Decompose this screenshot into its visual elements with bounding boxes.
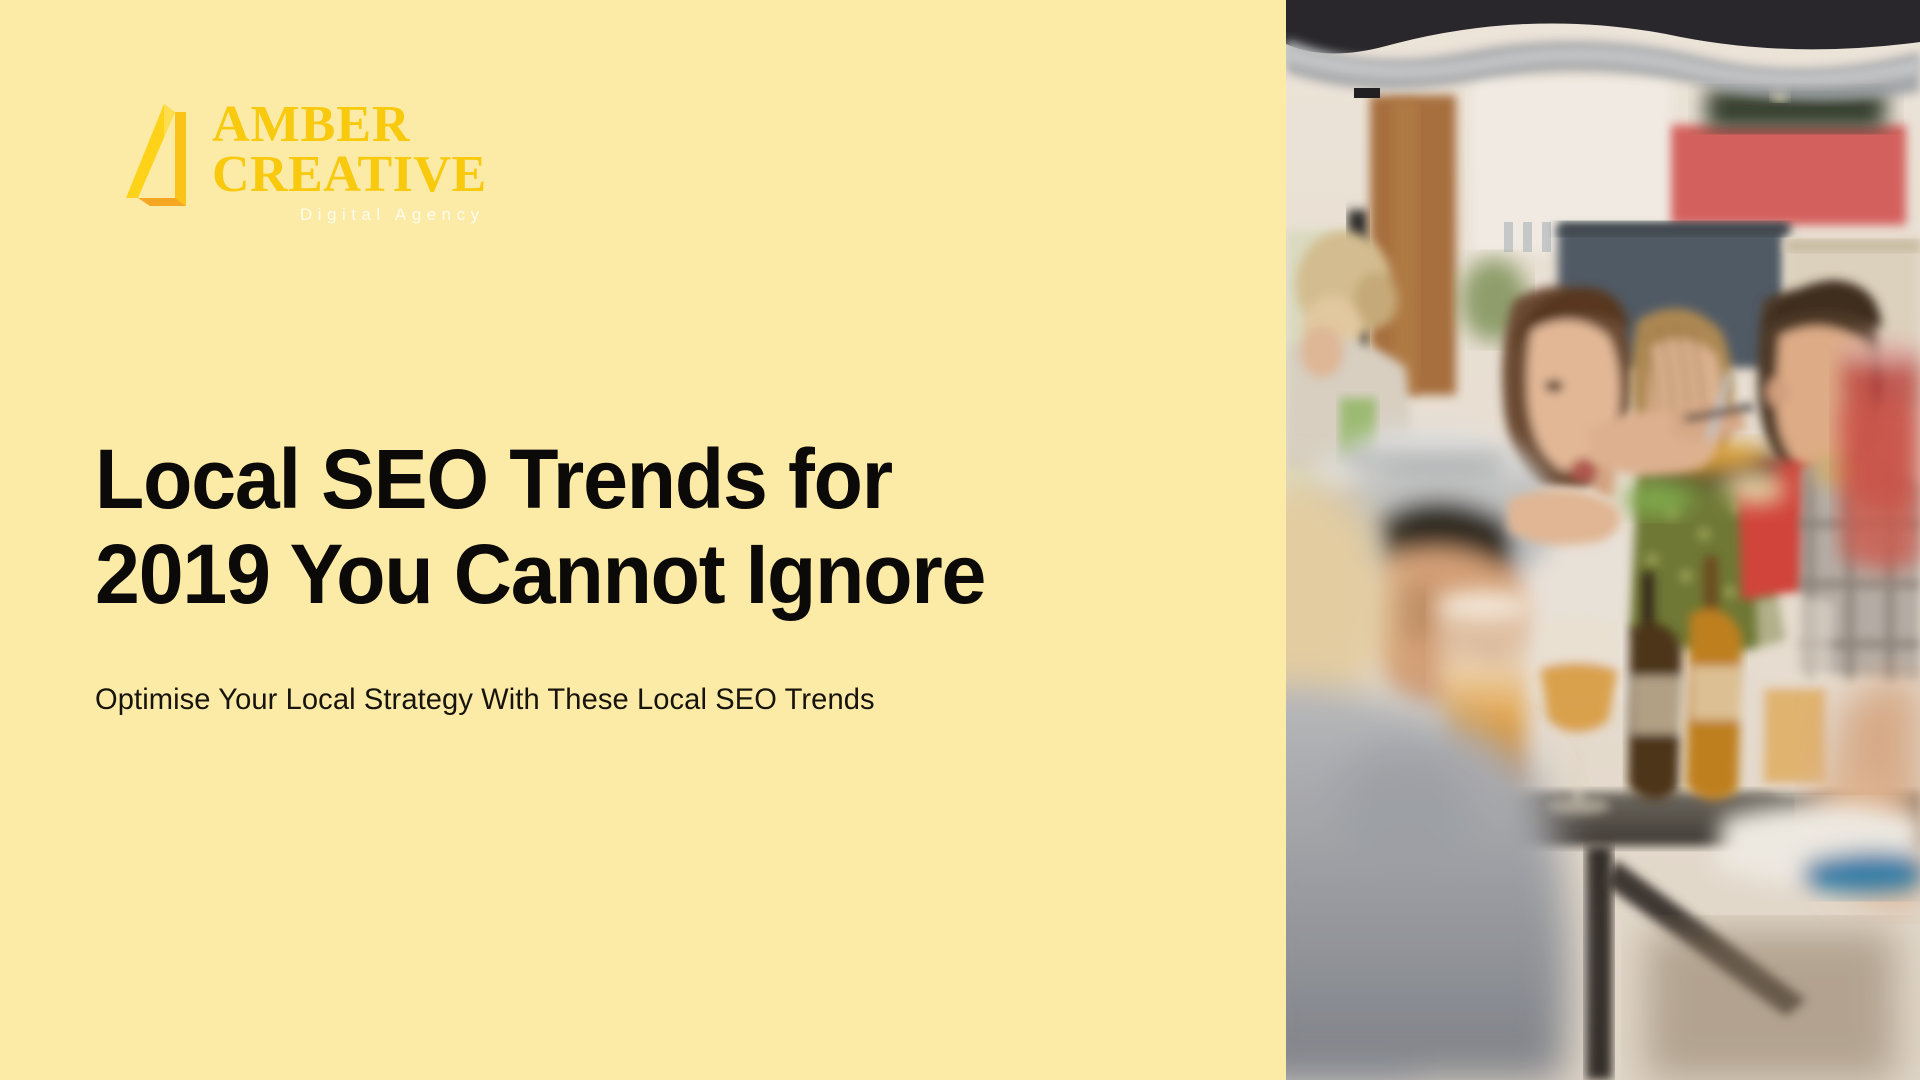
brand-tagline: Digital Agency [212, 207, 487, 223]
amber-triangle-mark-icon [124, 102, 198, 214]
communal-dining-photo [1286, 0, 1920, 1080]
page-subtitle: Optimise Your Local Strategy With These … [95, 622, 987, 725]
brand-name-line2: CREATIVE [212, 150, 487, 200]
photo-illustration [1286, 0, 1920, 1080]
page-title: Local SEO Trends for 2019 You Cannot Ign… [95, 432, 1017, 622]
left-content-panel: AMBER CREATIVE Digital Agency Local SEO … [0, 0, 1286, 1080]
hero-slide: AMBER CREATIVE Digital Agency Local SEO … [0, 0, 1920, 1080]
brand-wordmark: AMBER CREATIVE Digital Agency [212, 98, 487, 223]
hero-text-block: Local SEO Trends for 2019 You Cannot Ign… [95, 432, 1115, 724]
brand-logo[interactable]: AMBER CREATIVE Digital Agency [124, 98, 487, 223]
brand-name-line1: AMBER [212, 100, 487, 150]
